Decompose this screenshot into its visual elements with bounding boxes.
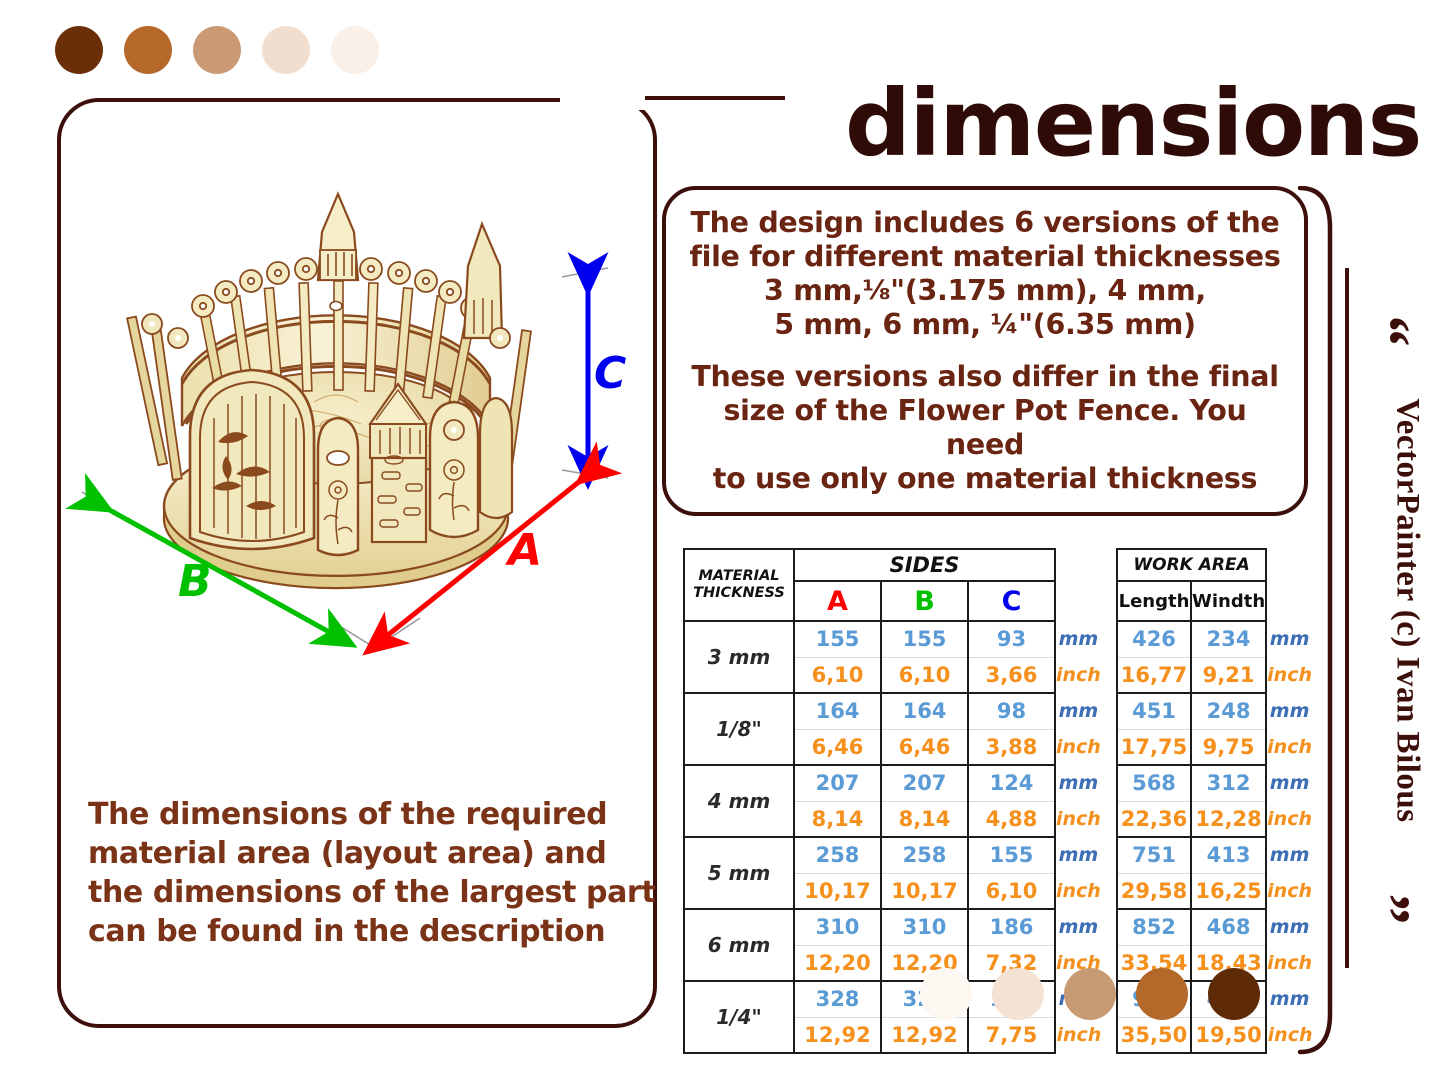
sides-inch-value: 10,17	[881, 873, 968, 909]
work-row-mm: 426234mm	[1117, 621, 1313, 657]
sides-inch-value: 12,20	[794, 945, 881, 981]
work-row-inch: 35,5019,50inch	[1117, 1017, 1313, 1053]
sides-mm-value: 93	[968, 621, 1055, 657]
unit-label-inch: inch	[1055, 801, 1102, 837]
work-mm-value: 312	[1191, 765, 1266, 801]
unit-label-inch: inch	[1055, 873, 1102, 909]
sides-mm-value: 155	[968, 837, 1055, 873]
material-thickness-cell: 1/8"	[684, 693, 794, 765]
palette-swatch-3	[1064, 968, 1116, 1020]
work-mm-value: 852	[1117, 909, 1191, 945]
info-p1-line4-post: "(6.35 mm)	[1018, 308, 1196, 341]
palette-swatches-bottom	[920, 968, 1280, 1020]
work-mm-value: 426	[1117, 621, 1191, 657]
sides-row-mm: 1/8"16416498mm	[684, 693, 1102, 729]
witness-lines	[82, 268, 608, 648]
info-p1-line1: The design includes 6 versions of the	[688, 206, 1282, 240]
sides-mm-value: 310	[881, 909, 968, 945]
unit-label-inch: inch	[1055, 729, 1102, 765]
sides-inch-value: 8,14	[794, 801, 881, 837]
watermark-wrap: VectorPainter (c) Ivan Bilous	[1340, 300, 1436, 940]
sides-mm-value: 124	[968, 765, 1055, 801]
header-width: Windth	[1191, 581, 1266, 621]
info-p1-line4-pre: 5 mm, 6 mm,	[774, 308, 990, 341]
sides-header-row-1: MATERIAL THICKNESS SIDES	[684, 549, 1102, 581]
work-inch-value: 22,36	[1117, 801, 1191, 837]
unit-label-mm: mm	[1055, 765, 1102, 801]
header-sides: SIDES	[794, 549, 1055, 581]
header-material-line1: MATERIAL	[685, 568, 793, 585]
info-p1-line2: file for different material thicknesses	[688, 240, 1282, 274]
sides-row-mm: 5 mm258258155mm	[684, 837, 1102, 873]
work-row-mm: 852468mm	[1117, 909, 1313, 945]
unit-label-mm: mm	[1055, 621, 1102, 657]
work-row-mm: 751413mm	[1117, 837, 1313, 873]
fraction-one-quarter: ¼	[990, 309, 1018, 341]
header-side-a: A	[794, 581, 881, 621]
sides-spacer-header-2	[1055, 581, 1102, 621]
material-thickness-cell: 6 mm	[684, 909, 794, 981]
info-p1-line4: 5 mm, 6 mm, ¼"(6.35 mm)	[688, 308, 1282, 342]
work-inch-value: 9,21	[1191, 657, 1266, 693]
work-row-inch: 16,779,21inch	[1117, 657, 1313, 693]
unit-label-mm: mm	[1055, 693, 1102, 729]
info-p2-line2: size of the Flower Pot Fence. You need	[688, 394, 1282, 462]
sides-inch-value: 6,10	[881, 657, 968, 693]
sides-inch-value: 6,46	[881, 729, 968, 765]
work-inch-value: 9,75	[1191, 729, 1266, 765]
palette-swatch-1	[920, 968, 972, 1020]
work-inch-value: 35,50	[1117, 1017, 1191, 1053]
watermark-text: VectorPainter (c) Ivan Bilous	[1389, 291, 1426, 931]
sides-inch-value: 12,92	[794, 1017, 881, 1053]
sides-mm-value: 310	[794, 909, 881, 945]
work-inch-value: 29,58	[1117, 873, 1191, 909]
work-header-row-1: WORK AREA	[1117, 549, 1313, 581]
left-note-paragraph: The dimensions of the required material …	[88, 795, 663, 951]
unit-label-inch: inch	[1055, 1017, 1102, 1053]
work-inch-value: 17,75	[1117, 729, 1191, 765]
info-p2-line1: These versions also differ in the final	[688, 360, 1282, 394]
sides-mm-value: 258	[881, 837, 968, 873]
sides-mm-value: 155	[794, 621, 881, 657]
sides-row-mm: 6 mm310310186mm	[684, 909, 1102, 945]
info-p1-line3-pre: 3 mm,	[764, 274, 862, 307]
work-inch-value: 16,77	[1117, 657, 1191, 693]
watermark-close-quote: ”	[1357, 894, 1419, 925]
dimension-label-c: C	[594, 348, 626, 399]
unit-label-mm: mm	[1055, 909, 1102, 945]
palette-swatch-5	[1208, 968, 1260, 1020]
sides-mm-value: 155	[881, 621, 968, 657]
work-mm-value: 234	[1191, 621, 1266, 657]
info-p1-line3: 3 mm,⅛"(3.175 mm), 4 mm,	[688, 274, 1282, 308]
header-work-area: WORK AREA	[1117, 549, 1266, 581]
palette-swatch-2	[992, 968, 1044, 1020]
work-mm-value: 248	[1191, 693, 1266, 729]
header-material-thickness: MATERIAL THICKNESS	[684, 549, 794, 621]
work-row-mm: 568312mm	[1117, 765, 1313, 801]
work-inch-value: 19,50	[1191, 1017, 1266, 1053]
dimension-line-b	[97, 503, 340, 638]
sides-inch-value: 4,88	[968, 801, 1055, 837]
material-thickness-cell: 1/4"	[684, 981, 794, 1053]
sides-mm-value: 258	[794, 837, 881, 873]
dimension-line-a	[378, 473, 590, 643]
sides-inch-value: 3,66	[968, 657, 1055, 693]
header-side-b: B	[881, 581, 968, 621]
sides-row-mm: 4 mm207207124mm	[684, 765, 1102, 801]
palette-swatch-4	[1136, 968, 1188, 1020]
sides-inch-value: 7,75	[968, 1017, 1055, 1053]
sides-spacer-header	[1055, 549, 1102, 581]
unit-label-inch: inch	[1055, 657, 1102, 693]
work-mm-value: 568	[1117, 765, 1191, 801]
sides-mm-value: 164	[794, 693, 881, 729]
sides-inch-value: 12,92	[881, 1017, 968, 1053]
sides-inch-value: 10,17	[794, 873, 881, 909]
dimension-label-b: B	[178, 556, 212, 607]
info-p2-line3: to use only one material thickness	[688, 462, 1282, 496]
sides-inch-value: 6,46	[794, 729, 881, 765]
work-mm-value: 413	[1191, 837, 1266, 873]
sides-row-mm: 3 mm15515593mm	[684, 621, 1102, 657]
work-inch-value: 12,28	[1191, 801, 1266, 837]
work-row-mm: 451248mm	[1117, 693, 1313, 729]
sides-inch-value: 8,14	[881, 801, 968, 837]
sides-inch-value: 3,88	[968, 729, 1055, 765]
material-thickness-cell: 3 mm	[684, 621, 794, 693]
work-row-inch: 17,759,75inch	[1117, 729, 1313, 765]
material-thickness-cell: 4 mm	[684, 765, 794, 837]
work-mm-value: 751	[1117, 837, 1191, 873]
work-mm-value: 451	[1117, 693, 1191, 729]
work-row-inch: 22,3612,28inch	[1117, 801, 1313, 837]
unit-label-mm: mm	[1055, 837, 1102, 873]
sides-mm-value: 186	[968, 909, 1055, 945]
header-length: Length	[1117, 581, 1191, 621]
work-mm-value: 468	[1191, 909, 1266, 945]
sides-mm-value: 98	[968, 693, 1055, 729]
sides-mm-value: 164	[881, 693, 968, 729]
sides-inch-value: 6,10	[968, 873, 1055, 909]
material-thickness-info-box: The design includes 6 versions of the fi…	[662, 186, 1308, 516]
header-material-line2: THICKNESS	[685, 585, 793, 602]
fraction-one-eighth: ⅛	[863, 275, 891, 307]
sides-mm-value: 207	[794, 765, 881, 801]
sides-mm-value: 207	[881, 765, 968, 801]
sides-mm-value: 328	[794, 981, 881, 1017]
material-thickness-cell: 5 mm	[684, 837, 794, 909]
work-row-inch: 29,5816,25inch	[1117, 873, 1313, 909]
page-title: dimensions	[845, 78, 1375, 170]
work-inch-value: 16,25	[1191, 873, 1266, 909]
info-paragraph-2: These versions also differ in the final …	[688, 360, 1282, 496]
sides-inch-value: 6,10	[794, 657, 881, 693]
work-header-row-2: Length Windth	[1117, 581, 1313, 621]
dimension-label-a: A	[508, 525, 542, 576]
info-paragraph-1: The design includes 6 versions of the fi…	[688, 206, 1282, 342]
info-p1-line3-post: "(3.175 mm), 4 mm,	[890, 274, 1206, 307]
header-side-c: C	[968, 581, 1055, 621]
